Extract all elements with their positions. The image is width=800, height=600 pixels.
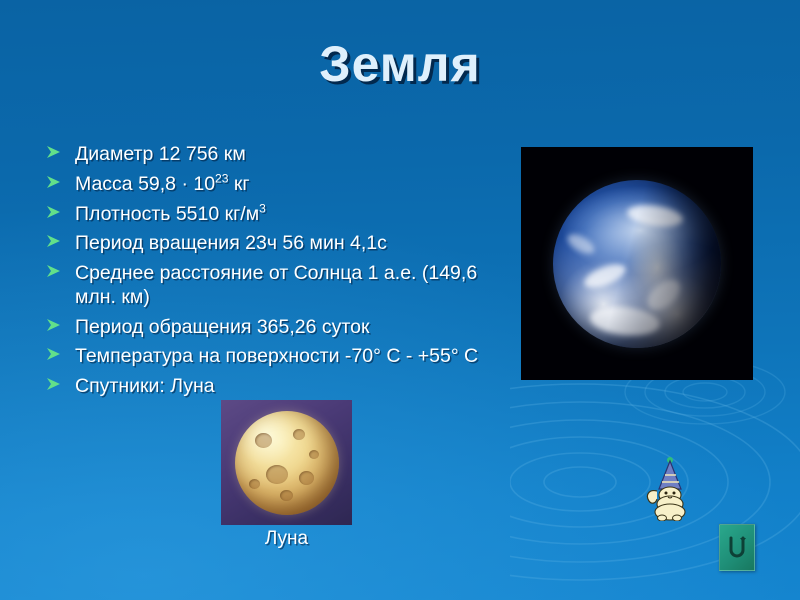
crater xyxy=(255,433,272,448)
return-arrow-badge[interactable] xyxy=(719,524,755,571)
crater xyxy=(249,479,260,489)
fact-text: Спутники: Луна xyxy=(75,375,215,397)
list-item: Период вращения 23ч 56 мин 4,1с xyxy=(40,232,510,256)
cat-with-party-hat-icon xyxy=(643,455,699,521)
fact-text-after: кг xyxy=(228,173,249,195)
fact-text: Температура на поверхности -70° С - +55°… xyxy=(75,345,478,367)
crater xyxy=(266,465,288,484)
arrow-bullet-icon xyxy=(46,175,62,191)
arrow-bullet-icon xyxy=(46,347,62,363)
arrow-bullet-icon xyxy=(46,377,62,393)
arrow-bullet-icon xyxy=(46,205,62,221)
fact-text: Период вращения 23ч 56 мин 4,1с xyxy=(75,232,387,254)
fact-superscript: 3 xyxy=(259,201,266,215)
fact-text: Масса 59,8 · 1023 кг xyxy=(75,173,250,195)
fact-text: Диаметр 12 756 км xyxy=(75,143,246,165)
crater xyxy=(280,490,293,501)
earth-photo xyxy=(521,147,753,380)
fact-text: Период обращения 365,26 суток xyxy=(75,316,369,338)
arrow-bullet-icon xyxy=(46,145,62,161)
arrow-bullet-icon xyxy=(46,318,62,334)
list-item: Спутники: Луна xyxy=(40,375,510,399)
list-item: Масса 59,8 · 1023 кг xyxy=(40,173,510,197)
list-item: Диаметр 12 756 км xyxy=(40,143,510,167)
arrow-bullet-icon xyxy=(46,234,62,250)
list-item: Температура на поверхности -70° С - +55°… xyxy=(40,345,510,369)
list-item: Среднее расстояние от Солнца 1 а.е. (149… xyxy=(40,262,510,310)
fact-text: Плотность 5510 кг/м3 xyxy=(75,203,266,225)
facts-list: Диаметр 12 756 км Масса 59,8 · 1023 кг П… xyxy=(40,143,510,405)
fact-text: Среднее расстояние от Солнца 1 а.е. (149… xyxy=(75,262,477,308)
list-item: Плотность 5510 кг/м3 xyxy=(40,203,510,227)
earth-shadow xyxy=(553,180,721,348)
list-item: Период обращения 365,26 суток xyxy=(40,316,510,340)
earth-globe xyxy=(553,180,721,348)
slide-canvas: Земля Диаметр 12 756 км Масса 59,8 · 102… xyxy=(0,0,800,600)
crater xyxy=(293,429,305,440)
arrow-bullet-icon xyxy=(46,264,62,280)
crater xyxy=(299,471,314,485)
fact-superscript: 23 xyxy=(215,171,228,185)
slide-title: Земля xyxy=(0,38,800,91)
moon-photo xyxy=(221,400,352,525)
fact-text-before: Плотность 5510 кг/м xyxy=(75,203,259,225)
moon-disc xyxy=(235,411,339,515)
crater xyxy=(309,450,319,459)
fact-text-before: Масса 59,8 · 10 xyxy=(75,173,215,195)
moon-caption: Луна xyxy=(221,528,352,550)
